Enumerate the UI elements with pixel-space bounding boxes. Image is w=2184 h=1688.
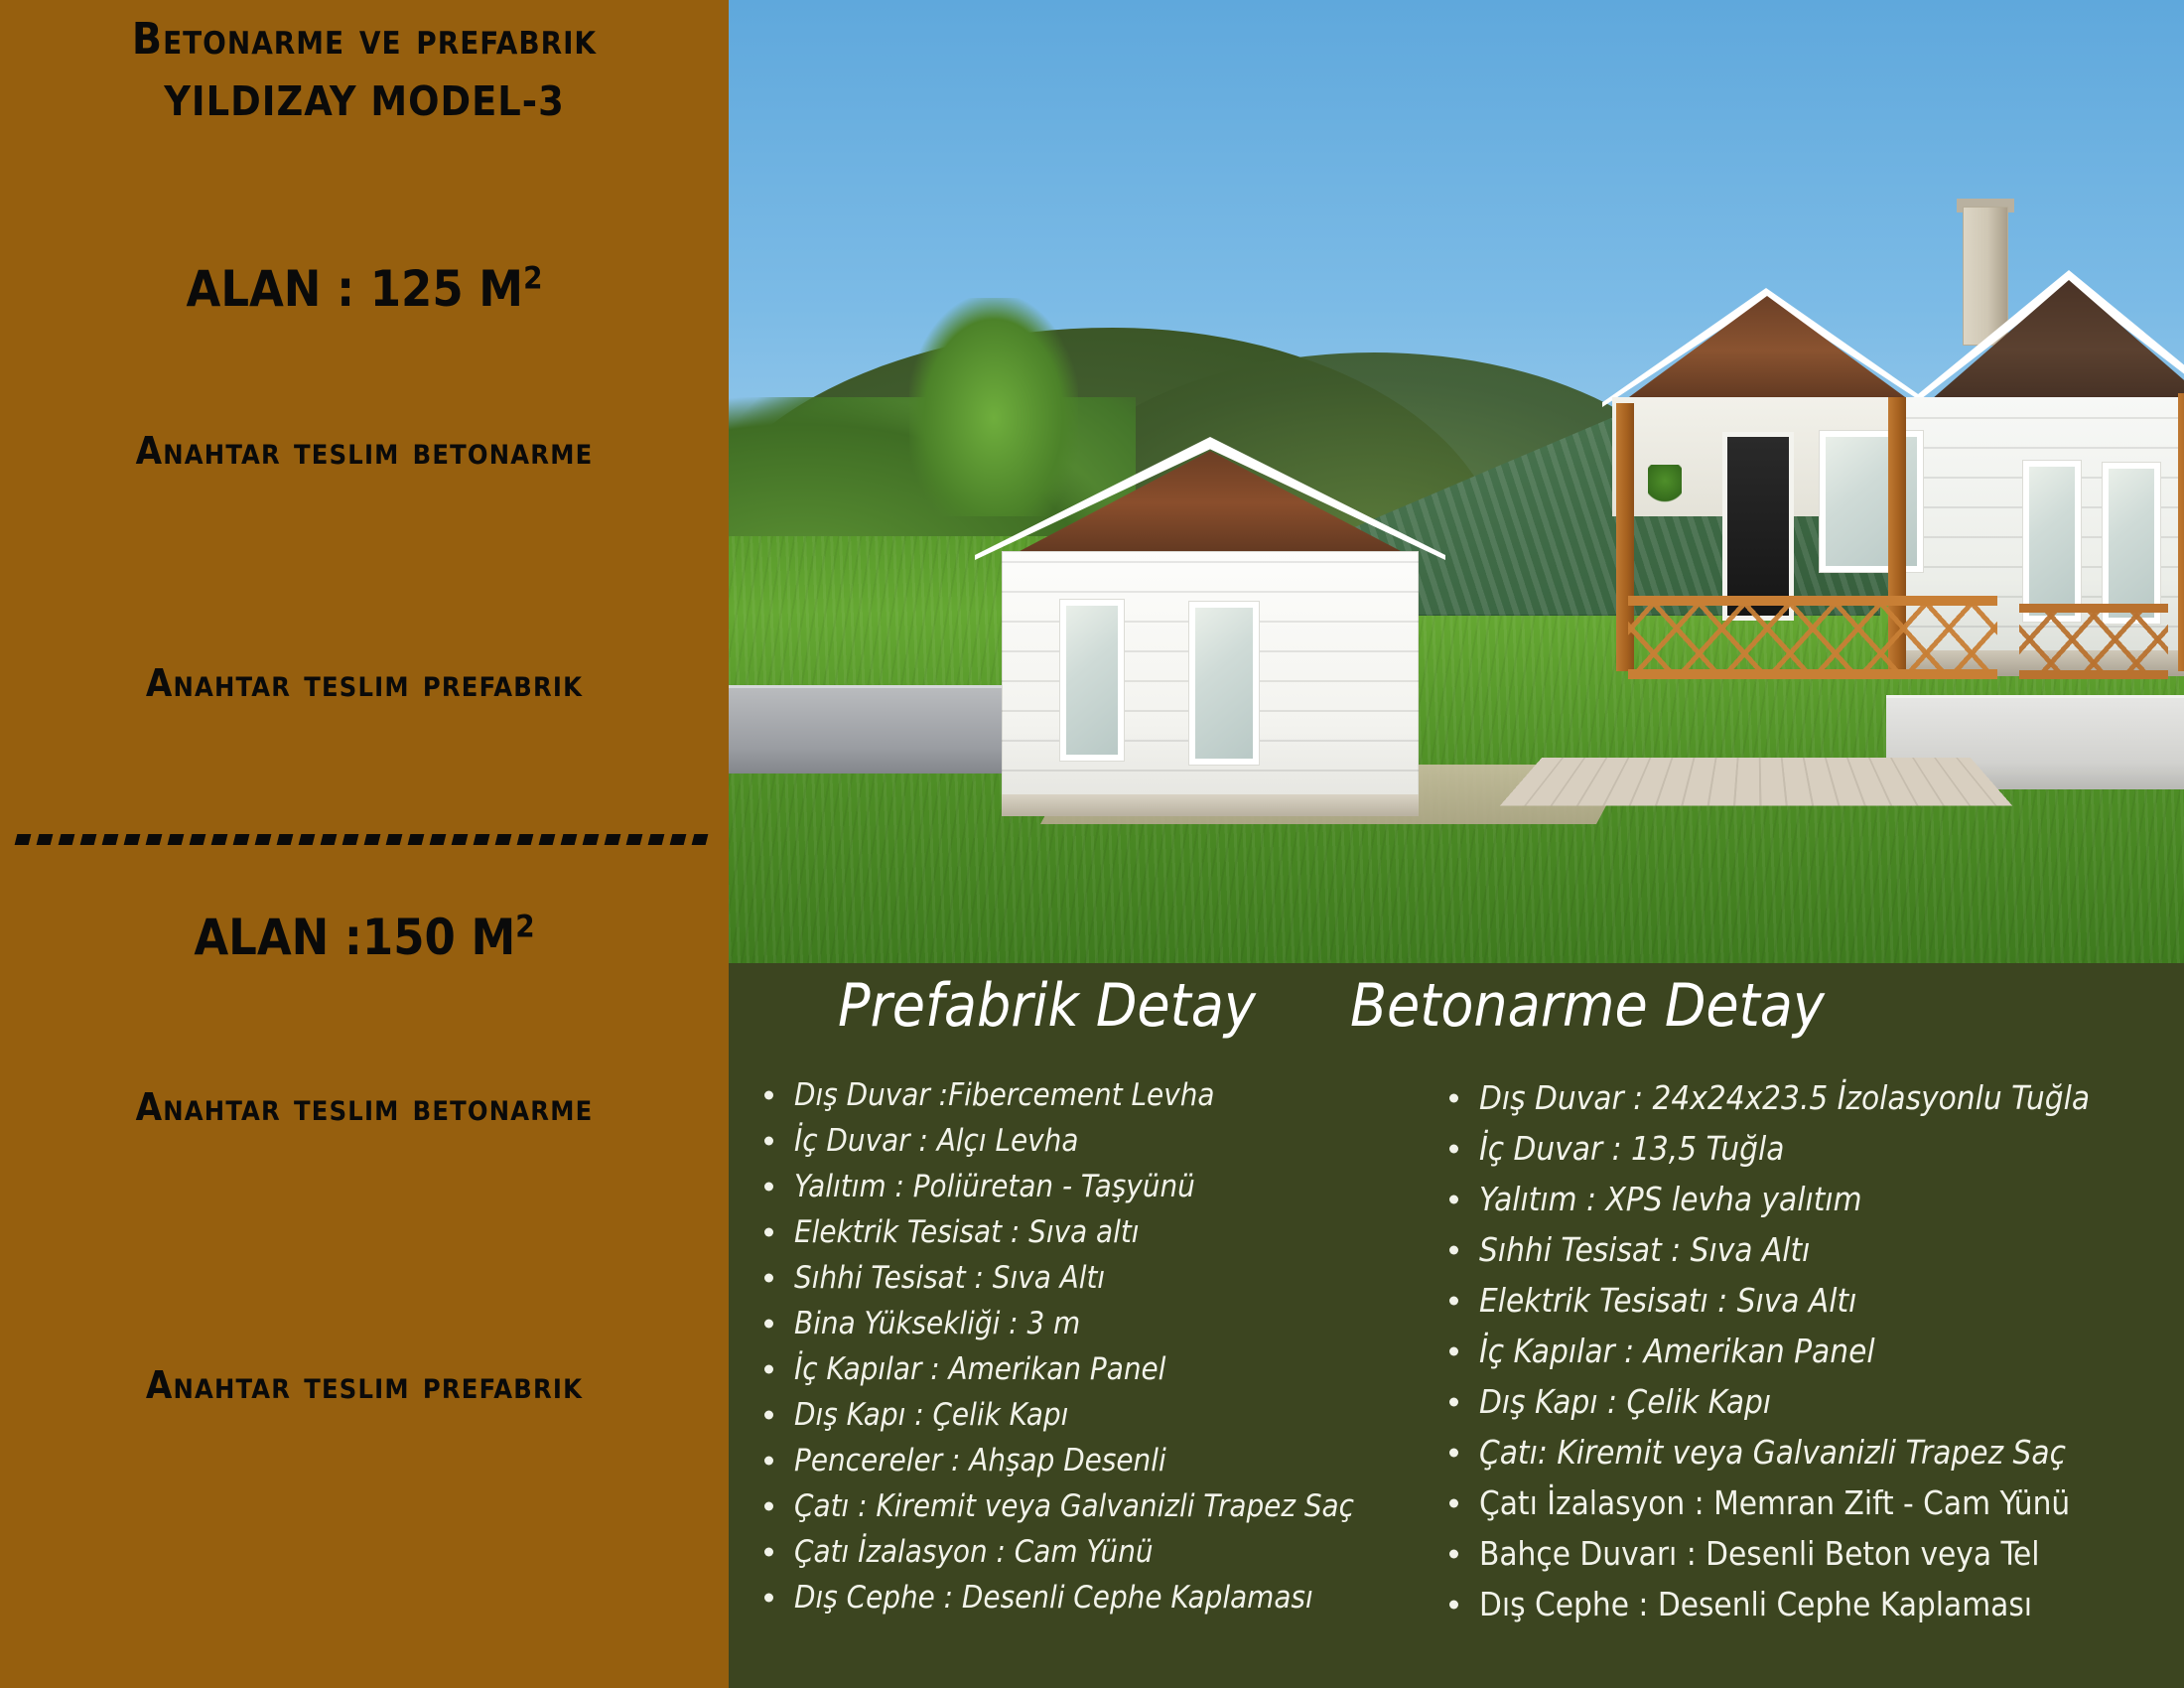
heading-prefabrik-detay: Prefabrik Detay: [838, 971, 1256, 1041]
option-betonarme-125: Anahtar teslim betonarme: [0, 429, 729, 473]
dash-mark: [342, 834, 359, 845]
option-betonarme-150: Anahtar teslim betonarme: [0, 1085, 729, 1129]
list-item: Bina Yüksekliği : 3 m: [794, 1301, 1453, 1346]
dash-mark: [277, 834, 294, 845]
dash-mark: [59, 834, 75, 845]
detail-panel: Prefabrik Detay Betonarme Detay Dış Duva…: [729, 963, 2184, 1688]
list-item: İç Duvar : 13,5 Tuğla: [1479, 1123, 2178, 1174]
fence-left: [729, 685, 1046, 774]
detail-column-prefabrik: Dış Duvar :Fibercement Levha İç Duvar : …: [739, 1072, 1453, 1620]
list-item: Çatı İzalasyon : Cam Yünü: [794, 1529, 1453, 1575]
dash-mark: [648, 834, 665, 845]
dash-mark: [539, 834, 556, 845]
dash-mark: [37, 834, 54, 845]
window-side-left: [2029, 467, 2075, 616]
window-side-right: [2109, 469, 2154, 618]
list-item: Çatı İzalasyon : Memran Zift - Cam Yünü: [1479, 1477, 2178, 1528]
dash-mark: [561, 834, 578, 845]
option-prefabrik-150: Anahtar teslim prefabrik: [0, 1363, 729, 1407]
prefabrik-spec-list: Dış Duvar :Fibercement Levha İç Duvar : …: [739, 1072, 1453, 1620]
entry-door: [1727, 437, 1789, 616]
dash-mark: [168, 834, 185, 845]
dash-mark: [517, 834, 534, 845]
porch-gable-face: [1618, 296, 1916, 405]
list-item: Dış Cephe : Desenli Cephe Kaplaması: [1479, 1579, 2178, 1629]
dash-mark: [321, 834, 338, 845]
dash-mark: [452, 834, 469, 845]
dash-mark: [15, 834, 32, 845]
area-label-150: ALAN :150 M2: [0, 909, 729, 966]
list-item: Yalıtım : Poliüretan - Taşyünü: [794, 1164, 1453, 1209]
dashed-separator: [16, 830, 711, 848]
dash-mark: [692, 834, 709, 845]
list-item: Bahçe Duvarı : Desenli Beton veya Tel: [1479, 1528, 2178, 1579]
dash-mark: [583, 834, 600, 845]
porch-railing-side: [2019, 604, 2168, 679]
dash-mark: [233, 834, 250, 845]
list-item: Pencereler : Ahşap Desenli: [794, 1438, 1453, 1483]
hanging-plant: [1648, 465, 1682, 504]
dash-mark: [408, 834, 425, 845]
area-label-125: ALAN : 125 M2: [0, 260, 729, 318]
house-photo: [729, 0, 2184, 963]
dash-mark: [80, 834, 97, 845]
detail-column-betonarme: Dış Duvar : 24x24x23.5 İzolasyonlu Tuğla…: [1424, 1072, 2178, 1629]
list-item: Sıhhi Tesisat : Sıva Altı: [794, 1255, 1453, 1301]
dash-mark: [495, 834, 512, 845]
area-value-125: ALAN : 125 M: [187, 260, 524, 318]
detail-headings: Prefabrik Detay Betonarme Detay: [729, 963, 2184, 1072]
list-item: İç Kapılar : Amerikan Panel: [1479, 1326, 2178, 1376]
porch-railing: [1628, 596, 1997, 679]
dash-mark: [386, 834, 403, 845]
list-item: Yalıtım : XPS levha yalıtım: [1479, 1174, 2178, 1224]
poster-title-line1: Betonarme ve prefabrik: [0, 14, 729, 65]
dash-mark: [474, 834, 490, 845]
window-front-right: [1195, 608, 1253, 759]
poster-root: Betonarme ve prefabrik YILDIZAY MODEL-3 …: [0, 0, 2184, 1688]
list-item: Dış Duvar : 24x24x23.5 İzolasyonlu Tuğla: [1479, 1072, 2178, 1123]
dash-mark: [102, 834, 119, 845]
foundation-left: [1002, 794, 1419, 816]
dash-mark: [255, 834, 272, 845]
gable-left: [975, 437, 1445, 560]
list-item: Sıhhi Tesisat : Sıva Altı: [1479, 1224, 2178, 1275]
list-item: Dış Duvar :Fibercement Levha: [794, 1072, 1453, 1118]
gable-face-left: [1003, 451, 1418, 560]
area-value-150: ALAN :150 M: [194, 909, 515, 966]
fence-right: [1886, 695, 2184, 789]
list-item: Çatı : Kiremit veya Galvanizli Trapez Sa…: [794, 1483, 1453, 1529]
option-prefabrik-125: Anahtar teslim prefabrik: [0, 661, 729, 705]
poster-title-line2: YILDIZAY MODEL-3: [0, 77, 729, 125]
dash-mark: [605, 834, 621, 845]
list-item: Dış Kapı : Çelik Kapı: [794, 1392, 1453, 1438]
dash-mark: [211, 834, 228, 845]
list-item: Elektrik Tesisat : Sıva altı: [794, 1209, 1453, 1255]
spec-sidebar: Betonarme ve prefabrik YILDIZAY MODEL-3 …: [0, 0, 729, 1688]
list-item: İç Kapılar : Amerikan Panel: [794, 1346, 1453, 1392]
dash-mark: [124, 834, 141, 845]
heading-betonarme-detay: Betonarme Detay: [1350, 971, 1825, 1041]
dash-mark: [364, 834, 381, 845]
dash-mark: [299, 834, 316, 845]
porch-gable: [1602, 288, 1930, 407]
list-item: Dış Kapı : Çelik Kapı: [1479, 1376, 2178, 1427]
dash-mark: [190, 834, 206, 845]
dash-mark: [670, 834, 687, 845]
dash-mark: [430, 834, 447, 845]
list-item: Çatı: Kiremit veya Galvanizli Trapez Saç: [1479, 1427, 2178, 1477]
area-superscript-150: 2: [515, 909, 534, 944]
list-item: Elektrik Tesisatı : Sıva Altı: [1479, 1275, 2178, 1326]
dash-mark: [626, 834, 643, 845]
area-superscript-125: 2: [523, 260, 542, 296]
betonarme-spec-list: Dış Duvar : 24x24x23.5 İzolasyonlu Tuğla…: [1424, 1072, 2178, 1629]
list-item: İç Duvar : Alçı Levha: [794, 1118, 1453, 1164]
dash-mark: [146, 834, 163, 845]
porch-post-3: [2178, 393, 2184, 671]
list-item: Dış Cephe : Desenli Cephe Kaplaması: [794, 1575, 1453, 1620]
window-front-left: [1066, 606, 1118, 755]
